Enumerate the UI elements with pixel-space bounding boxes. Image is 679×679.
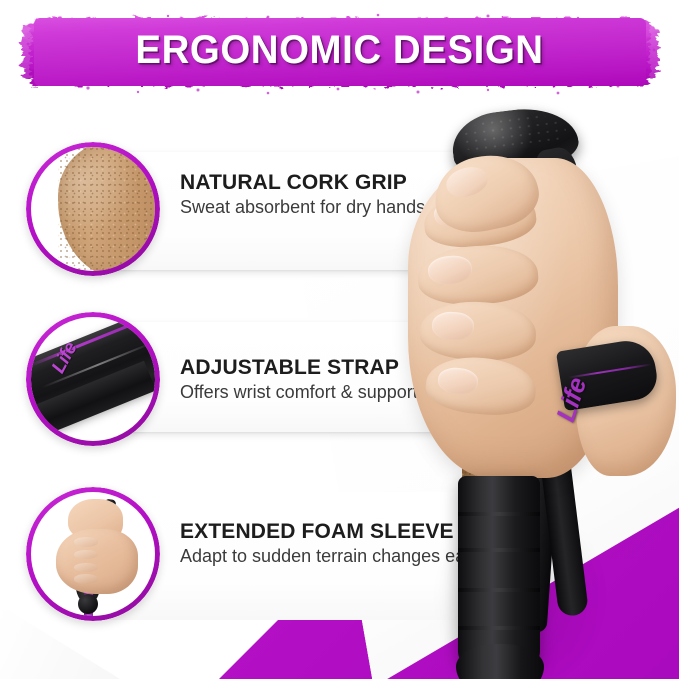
thumbnail-foam-sleeve-image (31, 492, 155, 616)
thumbnail-cork-grip-image (31, 147, 155, 271)
mini-hand-lower (56, 529, 138, 593)
product-photo-hand-gripping-trekking-pole: Life (400, 96, 679, 679)
infographic-canvas: ERGONOMIC DESIGN NATURAL CORK GRIP Sweat… (0, 0, 679, 679)
mini-knuckle-1 (74, 537, 99, 547)
mini-foam-bulb (78, 594, 98, 614)
foam-ring-4 (458, 626, 540, 630)
thumbnail-adjustable-strap[interactable]: Life (26, 312, 160, 446)
ring-finger-nail (432, 311, 475, 340)
foam-ring-3 (458, 588, 540, 592)
thumbnail-cork-grip[interactable] (26, 142, 160, 276)
mini-knuckle-2 (74, 550, 99, 560)
cork-texture-speckle (58, 147, 155, 271)
extended-foam-sleeve (458, 476, 540, 666)
page-title: ERGONOMIC DESIGN (14, 28, 666, 73)
cork-shape (58, 147, 155, 271)
foam-sleeve-bulb-end (456, 644, 544, 679)
thumbnail-foam-sleeve[interactable] (26, 487, 160, 621)
mini-knuckle-4 (74, 574, 99, 584)
foam-ring-1 (458, 512, 540, 516)
thumbnail-adjustable-strap-image: Life (31, 317, 155, 441)
header-banner: ERGONOMIC DESIGN (0, 8, 679, 100)
mini-knuckle-3 (74, 563, 99, 573)
foam-ring-2 (458, 548, 540, 552)
